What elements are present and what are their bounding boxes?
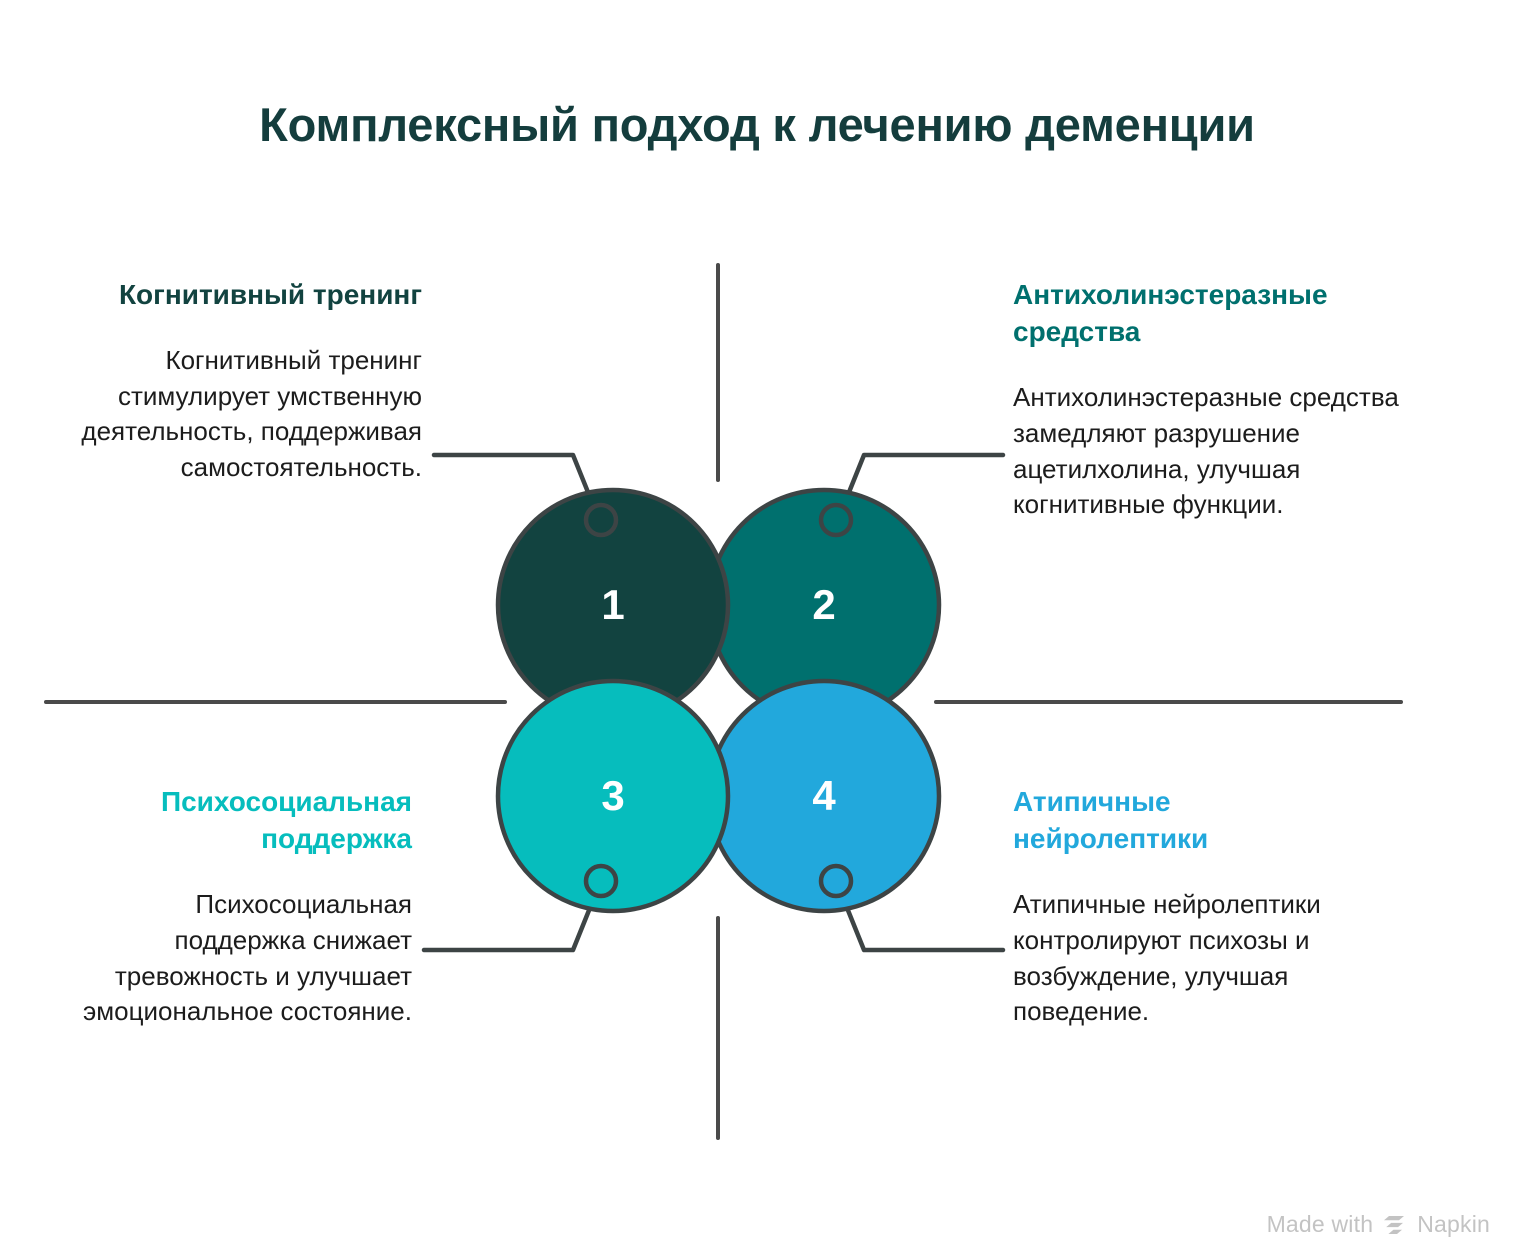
quadrant-bottom-right: Атипичные нейролептики Атипичные нейроле… [1013,783,1373,1030]
napkin-stripes-logo-icon [1382,1214,1408,1236]
quadrant-heading-1: Когнитивный тренинг [74,276,422,313]
quadrant-top-right: Антихолинэстеразные средства Антихолинэс… [1013,276,1453,523]
circle-number-3: 3 [583,775,643,817]
quadrant-heading-3: Психосоциальная поддержка [64,783,412,857]
quadrant-top-left: Когнитивный тренинг Когнитивный тренинг … [74,276,422,486]
circle-number-2: 2 [794,584,854,626]
quadrant-body-2: Антихолинэстеразные средства замедляют р… [1013,380,1453,522]
quadrant-body-3: Психосоциальная поддержка снижает тревож… [64,887,412,1029]
diagram-artwork [0,0,1514,1256]
watermark: Made with Napkin [1267,1211,1490,1238]
quadrant-body-4: Атипичные нейролептики контролируют псих… [1013,887,1373,1029]
quadrant-bottom-left: Психосоциальная поддержка Психосоциальна… [64,783,412,1030]
watermark-prefix: Made with [1267,1211,1374,1238]
infographic-canvas: Комплексный подход к лечению деменции 1 … [0,0,1514,1256]
watermark-brand: Napkin [1417,1211,1490,1238]
quadrant-heading-4: Атипичные нейролептики [1013,783,1373,857]
quadrant-heading-2: Антихолинэстеразные средства [1013,276,1453,350]
circle-number-1: 1 [583,584,643,626]
circle-number-4: 4 [794,775,854,817]
quadrant-body-1: Когнитивный тренинг стимулирует умственн… [74,343,422,485]
